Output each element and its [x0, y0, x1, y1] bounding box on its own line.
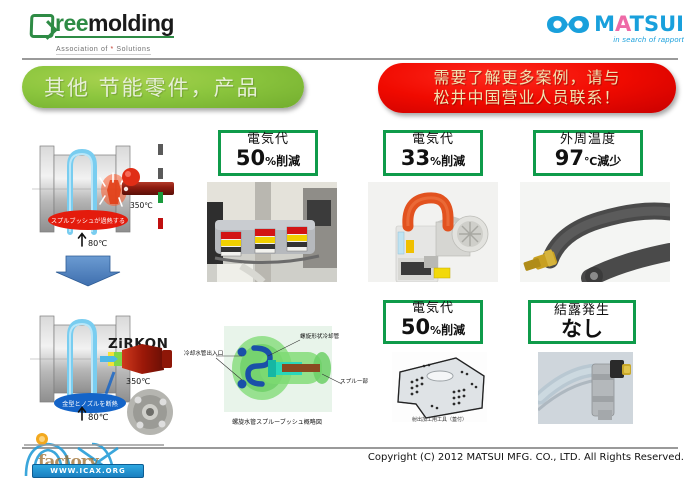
cap-suffix: 減少: [597, 154, 621, 168]
matsui-tsui: TSUI: [630, 12, 684, 36]
greemolding-tagline: Association of * Solutions: [56, 46, 151, 55]
cap-electricity-50-bot: 電気代 50%削減: [383, 300, 483, 344]
green-title-text: 其他 节能零件，产品: [22, 72, 260, 102]
cap-value: 97: [555, 146, 584, 170]
svg-text:350℃: 350℃: [130, 201, 153, 210]
cap-line1: 電気代: [386, 133, 480, 147]
spiral-water-sprue-bush-diagram: 冷却水管出入口 螺旋形状冷却管 スプルー部 螺旋水管スプルーブッシュ概略図: [182, 312, 372, 440]
copyright-text: Copyright (C) 2012 MATSUI MFG. CO., LTD.…: [368, 452, 684, 463]
matsui-m: M: [594, 12, 615, 36]
matsui-wordmark: MATSUI: [594, 14, 684, 34]
greemolding-word-dark: molding: [88, 10, 174, 36]
slide-root: reemolding Association of * Solutions MA…: [0, 0, 700, 485]
cap-value: なし: [561, 317, 603, 341]
cap-value: 50: [236, 146, 265, 170]
photo-hose-clamp-fitting: [538, 352, 633, 424]
cap-line1: 電気代: [386, 302, 480, 316]
cap-suffix: 削減: [276, 154, 300, 168]
icax-url-band: WWW.ICAX.ORG: [32, 464, 144, 478]
cap-value-row: なし: [531, 318, 633, 340]
cap-value-row: 50%削減: [386, 316, 480, 342]
cap-line1: 結露発生: [531, 304, 633, 318]
cap-unit: %: [430, 155, 441, 168]
tagline-before: Association of: [56, 46, 111, 53]
greemolding-word-green: ree: [55, 10, 88, 36]
zirkon-insulation-diagram: ZiRKON 350℃ 金型とノズルを断熱 80℃ 冷却: [22, 300, 202, 445]
photo-insulated-barrel-jackets: [207, 182, 337, 282]
matsui-a: A: [615, 12, 630, 36]
cap-value-row: 50%削減: [221, 147, 315, 173]
svg-text:スプルー部: スプルー部: [340, 377, 368, 385]
matsui-tagline: in search of rapport: [547, 35, 684, 44]
cap-value: 50: [401, 315, 430, 339]
tagline-after: Solutions: [114, 46, 151, 53]
cap-electricity-33: 電気代 33%削減: [383, 130, 483, 176]
svg-text:螺旋水管スプルーブッシュ概略図: 螺旋水管スプルーブッシュ概略図: [232, 418, 322, 426]
svg-text:冷却水管出入口: 冷却水管出入口: [184, 349, 223, 357]
svg-text:螺旋形状冷却管: 螺旋形状冷却管: [300, 332, 340, 340]
sprue-bush-overheat-diagram: 350℃ スプルブッシュが過熱する 80℃: [22, 128, 207, 288]
cap-value: 33: [401, 146, 430, 170]
greemolding-logo: reemolding Association of * Solutions: [30, 12, 210, 52]
icax-watermark-logo: factory WWW.ICAX.ORG: [14, 432, 164, 482]
cap-line1: 電気代: [221, 133, 315, 147]
red-callout-pill[interactable]: 需要了解更多案例，请与 松井中国营业人员联系！: [378, 63, 676, 113]
cap-unit: ℃: [584, 155, 597, 168]
header-divider: [22, 58, 678, 60]
cap-value-row: 97℃減少: [536, 147, 640, 173]
svg-text:スプルブッシュが過熱する: スプルブッシュが過熱する: [51, 217, 125, 225]
cap-value-row: 33%削減: [386, 147, 480, 173]
cap-no-condensation: 結露発生 なし: [528, 300, 636, 344]
cap-unit: %: [430, 324, 441, 337]
red-callout-line2: 松井中国营业人员联系！: [433, 88, 620, 108]
green-title-pill: 其他 节能零件，产品: [22, 66, 304, 108]
svg-text:350℃: 350℃: [126, 377, 150, 386]
cap-electricity-50-top: 電気代 50%削減: [218, 130, 318, 176]
cap-suffix: 削減: [441, 154, 465, 168]
red-callout-line1: 需要了解更多案例，请与: [433, 68, 620, 88]
svg-text:金型とノズルを断熱: 金型とノズルを断熱: [62, 400, 118, 408]
cap-outer-temp-97: 外周温度 97℃減少: [533, 130, 643, 176]
matsui-infinity-icon: [547, 15, 589, 34]
photo-caption: 射出加工用工具（蓋付）: [392, 416, 487, 422]
matsui-logo: MATSUI in search of rapport: [547, 14, 684, 44]
cap-suffix: 削減: [441, 323, 465, 337]
cap-line1: 外周温度: [536, 133, 640, 147]
photo-machined-plate: 射出加工用工具（蓋付）: [392, 352, 487, 422]
svg-text:80℃: 80℃: [88, 239, 107, 248]
photo-insulated-hose: [520, 182, 670, 282]
cap-unit: %: [265, 155, 276, 168]
photo-hopper-dryer-unit: [368, 182, 498, 282]
svg-text:80℃: 80℃: [88, 413, 109, 423]
greemolding-g-mark-icon: [30, 14, 55, 38]
